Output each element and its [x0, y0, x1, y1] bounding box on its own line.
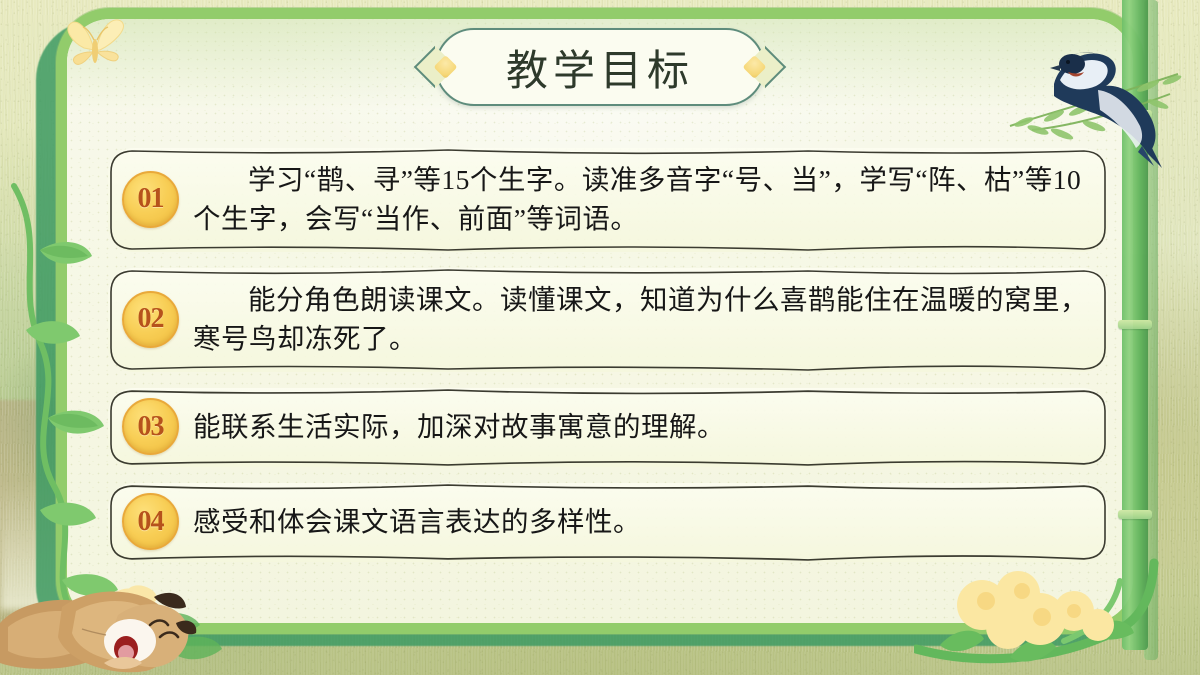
goal-text-04: 感受和体会课文语言表达的多样性。 [187, 502, 1094, 541]
bamboo-node [1118, 510, 1152, 519]
goal-text-03: 能联系生活实际，加深对故事寓意的理解。 [187, 407, 1094, 446]
goal-badge-02: 02 [122, 291, 179, 348]
bamboo-node [1118, 320, 1152, 329]
goal-badge-03: 03 [122, 398, 179, 455]
goal-text-01: 学习“鹊、寻”等15个生字。读准多音字“号、当”，学写“阵、枯”等10个生字，会… [187, 160, 1094, 238]
goal-card-04[interactable]: 04 感受和体会课文语言表达的多样性。 [108, 483, 1108, 562]
bamboo-stalk-icon [1122, 0, 1148, 650]
goal-number: 03 [138, 411, 164, 443]
goal-badge-01: 01 [122, 171, 179, 228]
goal-badge-04: 04 [122, 493, 179, 550]
slide-canvas: 教学目标 01 学习“鹊、寻”等15个生字。读准多音字“号、当”，学写“阵、枯”… [0, 0, 1200, 675]
goal-card-02[interactable]: 02 能分角色朗读课文。读懂课文，知道为什么喜鹊能住在温暖的窝里，寒号鸟却冻死了… [108, 268, 1108, 372]
slide-title: 教学目标 [435, 28, 765, 106]
goal-card-03[interactable]: 03 能联系生活实际，加深对故事寓意的理解。 [108, 388, 1108, 467]
goal-number: 04 [138, 506, 164, 538]
goal-card-01[interactable]: 01 学习“鹊、寻”等15个生字。读准多音字“号、当”，学写“阵、枯”等10个生… [108, 148, 1108, 252]
goal-list: 01 学习“鹊、寻”等15个生字。读准多音字“号、当”，学写“阵、枯”等10个生… [108, 148, 1108, 562]
goal-number: 01 [138, 183, 164, 215]
goal-number: 02 [138, 303, 164, 335]
bamboo-node [1118, 110, 1152, 119]
goal-text-02: 能分角色朗读课文。读懂课文，知道为什么喜鹊能住在温暖的窝里，寒号鸟却冻死了。 [187, 280, 1094, 358]
page-title: 教学目标 [435, 28, 765, 106]
